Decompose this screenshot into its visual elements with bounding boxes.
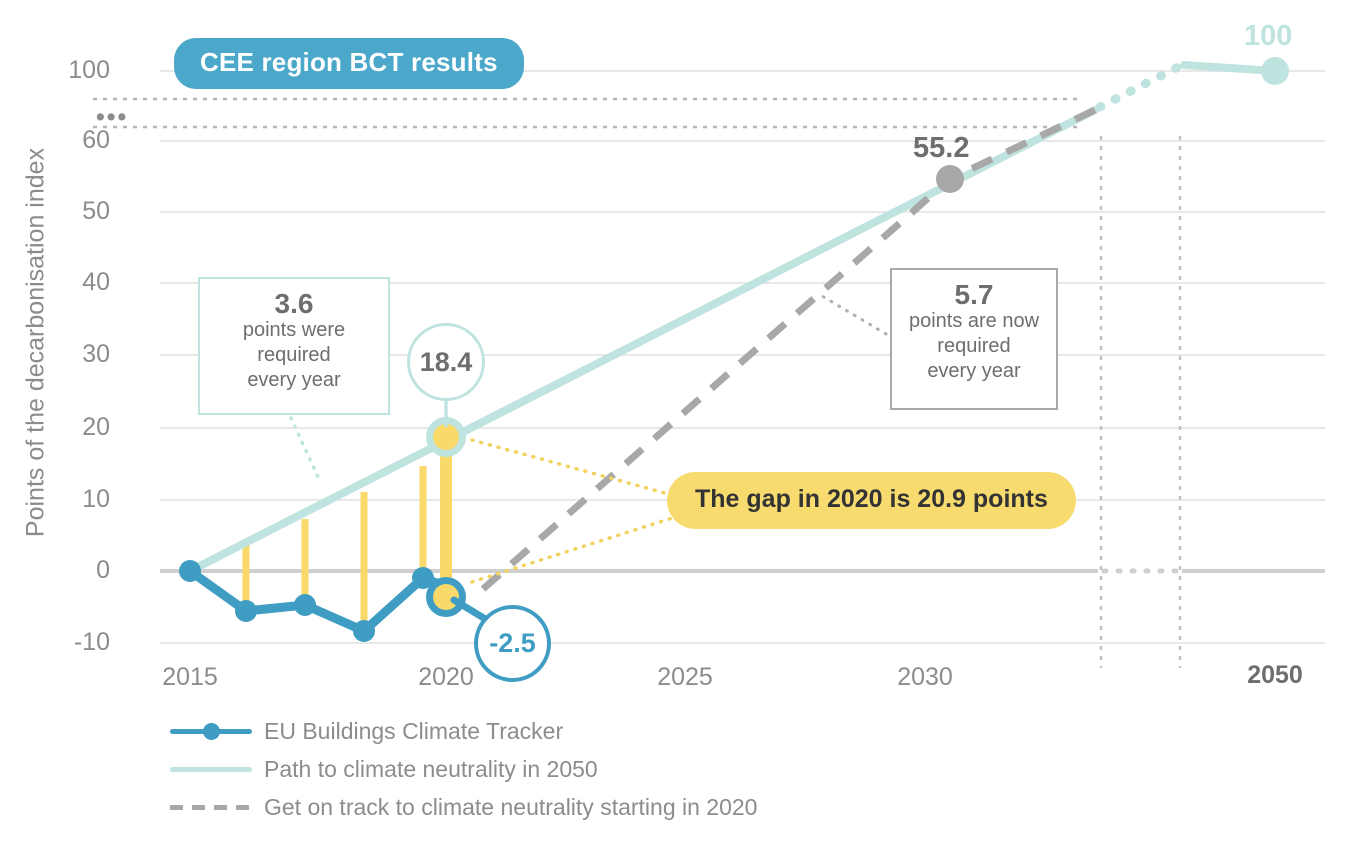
label-2050-value: 100	[1244, 20, 1292, 53]
right-callout-leader	[822, 296, 886, 334]
y-tick-20: 20	[0, 413, 110, 442]
right-callout: 5.7 points are now required every year	[890, 268, 1058, 410]
x-tick-2050: 2050	[1215, 661, 1335, 690]
chart-title: CEE region BCT results	[174, 38, 524, 89]
y-tick-100: 100	[0, 56, 110, 85]
x-tick-2015: 2015	[130, 663, 250, 692]
bubble-bct-2020: -2.5	[474, 605, 551, 682]
right-callout-line3: every year	[927, 360, 1020, 382]
legend-item-path[interactable]: Path to climate neutrality in 2050	[170, 750, 757, 788]
dot-2050-100	[1261, 57, 1289, 85]
y-tick-neg10: -10	[0, 628, 110, 657]
bubble-path-2020: 18.4	[407, 323, 485, 401]
right-callout-line1: points are now	[909, 310, 1039, 332]
legend-swatch-line-marker-icon	[170, 720, 252, 742]
legend-swatch-dashed-grey-icon	[170, 796, 252, 818]
gap-callout-pill: The gap in 2020 is 20.9 points	[667, 472, 1076, 529]
dot-2030-55	[936, 165, 964, 193]
y-tick-0: 0	[0, 556, 110, 585]
right-callout-value: 5.7	[892, 282, 1056, 307]
x-axis-break	[1101, 136, 1180, 668]
left-callout-line2: required	[257, 344, 330, 366]
right-callout-line2: required	[937, 335, 1010, 357]
legend-label-ontrack: Get on track to climate neutrality start…	[264, 794, 757, 821]
left-callout-line1: points were	[243, 319, 345, 341]
path-to-neutrality-break	[1100, 66, 1180, 107]
x-tick-2025: 2025	[625, 663, 745, 692]
legend-item-ontrack[interactable]: Get on track to climate neutrality start…	[170, 788, 757, 826]
y-tick-40: 40	[0, 268, 110, 297]
legend-item-bct[interactable]: EU Buildings Climate Tracker	[170, 712, 757, 750]
left-callout: 3.6 points were required every year	[198, 277, 390, 415]
left-callout-line3: every year	[247, 369, 340, 391]
y-axis-break	[93, 99, 1080, 127]
label-2030-value: 55.2	[913, 132, 969, 165]
x-tick-2030: 2030	[865, 663, 985, 692]
y-tick-60: 60	[0, 126, 110, 155]
y-tick-10: 10	[0, 485, 110, 514]
highlight-dot-bct-2020	[426, 577, 466, 617]
legend-swatch-solid-teal-icon	[170, 758, 252, 780]
left-callout-leader	[291, 418, 318, 477]
chart-legend: EU Buildings Climate Tracker Path to cli…	[170, 712, 757, 826]
left-callout-value: 3.6	[200, 291, 388, 316]
y-tick-50: 50	[0, 197, 110, 226]
legend-label-path: Path to climate neutrality in 2050	[264, 756, 598, 783]
y-tick-30: 30	[0, 340, 110, 369]
legend-label-bct: EU Buildings Climate Tracker	[264, 718, 563, 745]
chart-root: CEE region BCT results Points of the dec…	[0, 0, 1352, 854]
